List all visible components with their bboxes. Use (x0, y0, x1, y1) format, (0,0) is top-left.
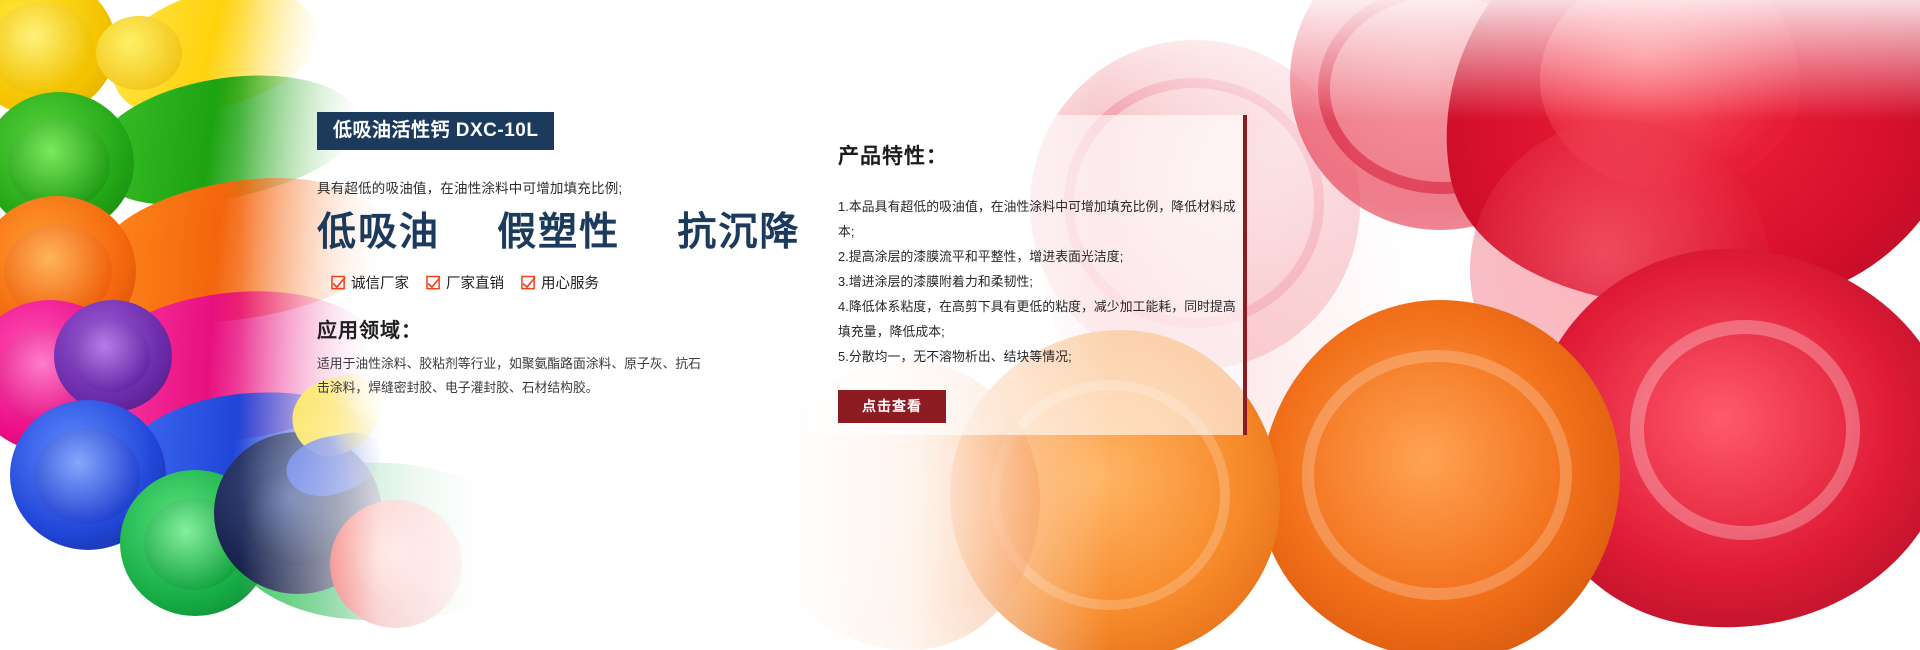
trust-badge-2: 厂家直销 (426, 272, 504, 293)
view-details-button[interactable]: 点击查看 (838, 390, 946, 423)
trust-badge-2-label: 厂家直销 (446, 272, 504, 293)
feature-item: 5.分散均一，无不溶物析出、结块等情况; (838, 345, 1238, 370)
features-panel-title: 产品特性： (838, 140, 1238, 170)
red-paint-bowl-ring (1630, 320, 1860, 540)
feature-item: 4.降低体系粘度，在高剪下具有更低的粘度，减少加工能耗，同时提高填充量，降低成本… (838, 295, 1238, 345)
product-headline: 低吸油 假塑性 抗沉降 (317, 212, 717, 253)
blue-paint-bowl-inner (34, 428, 140, 524)
trust-badge-1: 诚信厂家 (331, 272, 409, 293)
feature-item: 2.提高涂层的漆膜流平和平整性，增进表面光洁度; (838, 245, 1238, 270)
headline-part-3: 抗沉降 (677, 209, 800, 255)
trust-badge-row: 诚信厂家 厂家直销 用心服务 (317, 272, 717, 293)
product-subline: 具有超低的吸油值，在油性涂料中可增加填充比例; (317, 177, 717, 197)
product-features-content: 产品特性： 1.本品具有超低的吸油值，在油性涂料中可增加填充比例，降低材料成本;… (838, 140, 1238, 423)
features-list: 1.本品具有超低的吸油值，在油性涂料中可增加填充比例，降低材料成本; 2.提高涂… (838, 195, 1238, 370)
trust-badge-3-label: 用心服务 (541, 272, 599, 293)
checkbox-checked-icon (331, 275, 346, 290)
panel-right-accent-bar (1243, 115, 1247, 435)
checkbox-checked-icon (521, 275, 536, 290)
feature-item: 3.增进涂层的漆膜附着力和柔韧性; (838, 270, 1238, 295)
checkbox-checked-icon (426, 275, 441, 290)
application-description: 适用于油性涂料、胶粘剂等行业，如聚氨酯路面涂料、原子灰、抗石击涂料，焊缝密封胶、… (317, 352, 709, 399)
orange-paint-bowl-ring (1302, 350, 1572, 600)
purple-paint-bowl-inner (72, 320, 150, 392)
trust-badge-3: 用心服务 (521, 272, 599, 293)
banner-stage: 低吸油活性钙 DXC-10L 具有超低的吸油值，在油性涂料中可增加填充比例; 低… (0, 0, 1920, 650)
headline-part-2: 假塑性 (497, 209, 620, 255)
trust-badge-1-label: 诚信厂家 (351, 272, 409, 293)
yellow-paint-bowl-small (96, 16, 182, 90)
headline-part-1: 低吸油 (317, 209, 440, 255)
product-intro-column: 低吸油活性钙 DXC-10L 具有超低的吸油值，在油性涂料中可增加填充比例; 低… (317, 112, 717, 399)
application-heading: 应用领域： (317, 314, 717, 343)
product-title-badge: 低吸油活性钙 DXC-10L (317, 112, 554, 150)
feature-item: 1.本品具有超低的吸油值，在油性涂料中可增加填充比例，降低材料成本; (838, 195, 1238, 245)
